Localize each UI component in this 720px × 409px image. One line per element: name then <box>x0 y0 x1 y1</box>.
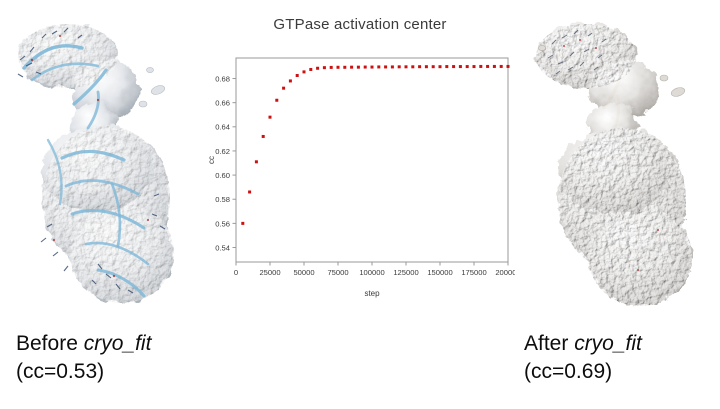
y-tick-label: 0.54 <box>215 243 230 252</box>
x-tick-label: 50000 <box>293 268 314 277</box>
plot-frame <box>236 58 508 262</box>
caption-after-italic: cryo_fit <box>574 332 642 355</box>
data-point <box>330 66 333 69</box>
y-axis: 0.540.560.580.600.620.640.660.68 <box>215 74 236 252</box>
caption-after-cc: (cc=0.69) <box>524 358 642 386</box>
chart-svg: 0.540.560.580.600.620.640.660.68 0250005… <box>205 12 515 302</box>
data-point <box>248 190 251 193</box>
data-point <box>275 99 278 102</box>
y-tick-label: 0.64 <box>215 123 230 132</box>
x-axis: 0250005000075000100000125000150000175000… <box>234 262 515 277</box>
data-point <box>282 87 285 90</box>
cc-vs-step-chart: GTPase activation center 0.540.560.580.6… <box>205 12 515 302</box>
data-point <box>303 70 306 73</box>
x-axis-label: step <box>364 289 380 298</box>
data-point <box>473 65 476 68</box>
data-point <box>405 65 408 68</box>
data-point <box>466 65 469 68</box>
data-point <box>309 68 312 71</box>
data-point <box>418 65 421 68</box>
y-tick-label: 0.56 <box>215 219 230 228</box>
data-point <box>343 66 346 69</box>
y-tick-label: 0.68 <box>215 74 230 83</box>
structure-before-panel <box>2 8 198 318</box>
data-point <box>439 65 442 68</box>
data-point <box>262 135 265 138</box>
caption-before-prefix: Before <box>16 332 84 355</box>
data-point <box>357 66 360 69</box>
y-tick-label: 0.60 <box>215 171 230 180</box>
data-point <box>391 65 394 68</box>
x-tick-label: 100000 <box>359 268 384 277</box>
data-point <box>411 65 414 68</box>
data-point <box>452 65 455 68</box>
x-tick-label: 150000 <box>427 268 452 277</box>
data-point <box>500 65 503 68</box>
x-tick-label: 125000 <box>393 268 418 277</box>
data-point <box>289 79 292 82</box>
data-point <box>425 65 428 68</box>
data-point <box>296 74 299 77</box>
y-tick-label: 0.62 <box>215 147 230 156</box>
data-point <box>269 116 272 119</box>
data-point <box>350 66 353 69</box>
x-tick-label: 25000 <box>259 268 280 277</box>
y-tick-label: 0.66 <box>215 99 230 108</box>
data-point <box>445 65 448 68</box>
data-point <box>364 66 367 69</box>
data-point <box>384 65 387 68</box>
x-tick-label: 200000 <box>495 268 515 277</box>
cryo-em-density-after <box>518 8 714 318</box>
data-point <box>398 65 401 68</box>
y-axis-label: cc <box>207 156 216 164</box>
data-point <box>255 160 258 163</box>
caption-before: Before cryo_fit (cc=0.53) <box>16 330 151 386</box>
x-tick-label: 175000 <box>461 268 486 277</box>
x-tick-label: 75000 <box>327 268 348 277</box>
caption-before-cc: (cc=0.53) <box>16 358 151 386</box>
data-point <box>479 65 482 68</box>
structure-after-panel <box>518 8 714 318</box>
data-point <box>377 65 380 68</box>
caption-before-italic: cryo_fit <box>84 332 152 355</box>
data-point <box>316 67 319 70</box>
data-point <box>507 65 510 68</box>
data-point <box>323 66 326 69</box>
caption-after-prefix: After <box>524 332 574 355</box>
caption-after: After cryo_fit (cc=0.69) <box>524 330 642 386</box>
data-point <box>486 65 489 68</box>
cryo-em-density-before <box>2 8 198 318</box>
data-point <box>337 66 340 69</box>
density-fragments-before <box>139 67 166 107</box>
data-point <box>493 65 496 68</box>
data-point <box>371 66 374 69</box>
data-point <box>241 222 244 225</box>
data-point <box>432 65 435 68</box>
x-tick-label: 0 <box>234 268 238 277</box>
y-tick-label: 0.58 <box>215 195 230 204</box>
data-point <box>459 65 462 68</box>
